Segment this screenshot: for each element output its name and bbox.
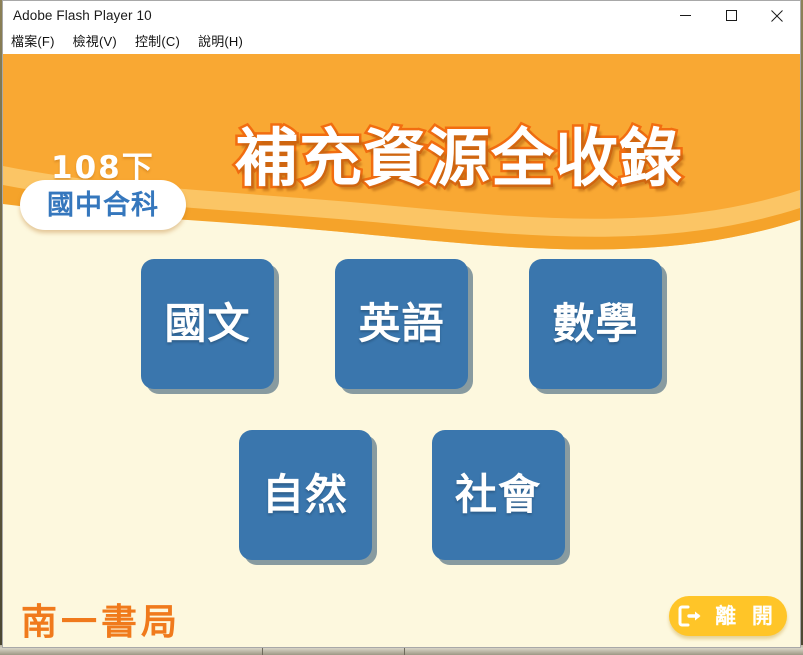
subject-button-science[interactable]: 自然 [239,430,372,560]
exit-button[interactable]: 離 開 [669,596,787,636]
subject-row-2: 自然 社會 [3,430,800,560]
page-title: 補充資源全收錄 [235,128,683,191]
subject-button-chinese[interactable]: 國文 [141,259,274,389]
subject-row-1: 國文 英語 數學 [3,259,800,389]
menu-item-control[interactable]: 控制(C) [135,30,189,54]
minimize-button[interactable] [662,1,708,30]
minimize-icon [680,10,691,21]
exit-icon [678,605,704,627]
grade-pill: 國中合科 [20,180,186,230]
menu-item-file[interactable]: 檔案(F) [11,30,64,54]
window-title: Adobe Flash Player 10 [3,1,152,30]
flash-stage: 108下 國中合科 補充資源全收錄 國文 英語 數學 自然 [3,54,800,647]
menu-item-help[interactable]: 說明(H) [198,30,252,54]
subject-label: 國文 [164,303,250,345]
exit-label: 離 開 [713,606,778,627]
menu-bar: 檔案(F) 檢視(V) 控制(C) 說明(H) [3,30,800,54]
window-controls [662,1,800,30]
subject-label: 社會 [455,474,541,516]
subject-grid: 國文 英語 數學 自然 社會 [3,259,800,560]
subject-button-english[interactable]: 英語 [335,259,468,389]
subject-label: 英語 [358,303,444,345]
close-icon [771,10,783,22]
maximize-button[interactable] [708,1,754,30]
menu-item-view[interactable]: 檢視(V) [73,30,126,54]
flash-player-window: Adobe Flash Player 10 檔案(F) 檢視(V [2,0,801,648]
subject-button-social[interactable]: 社會 [432,430,565,560]
subject-button-math[interactable]: 數學 [529,259,662,389]
title-bar: Adobe Flash Player 10 [3,1,800,30]
subject-label: 自然 [262,474,348,516]
grade-pill-label: 國中合科 [47,192,159,219]
publisher-logo: 南一書局 [21,604,181,640]
close-button[interactable] [754,1,800,30]
subject-label: 數學 [552,303,638,345]
maximize-icon [726,10,737,21]
